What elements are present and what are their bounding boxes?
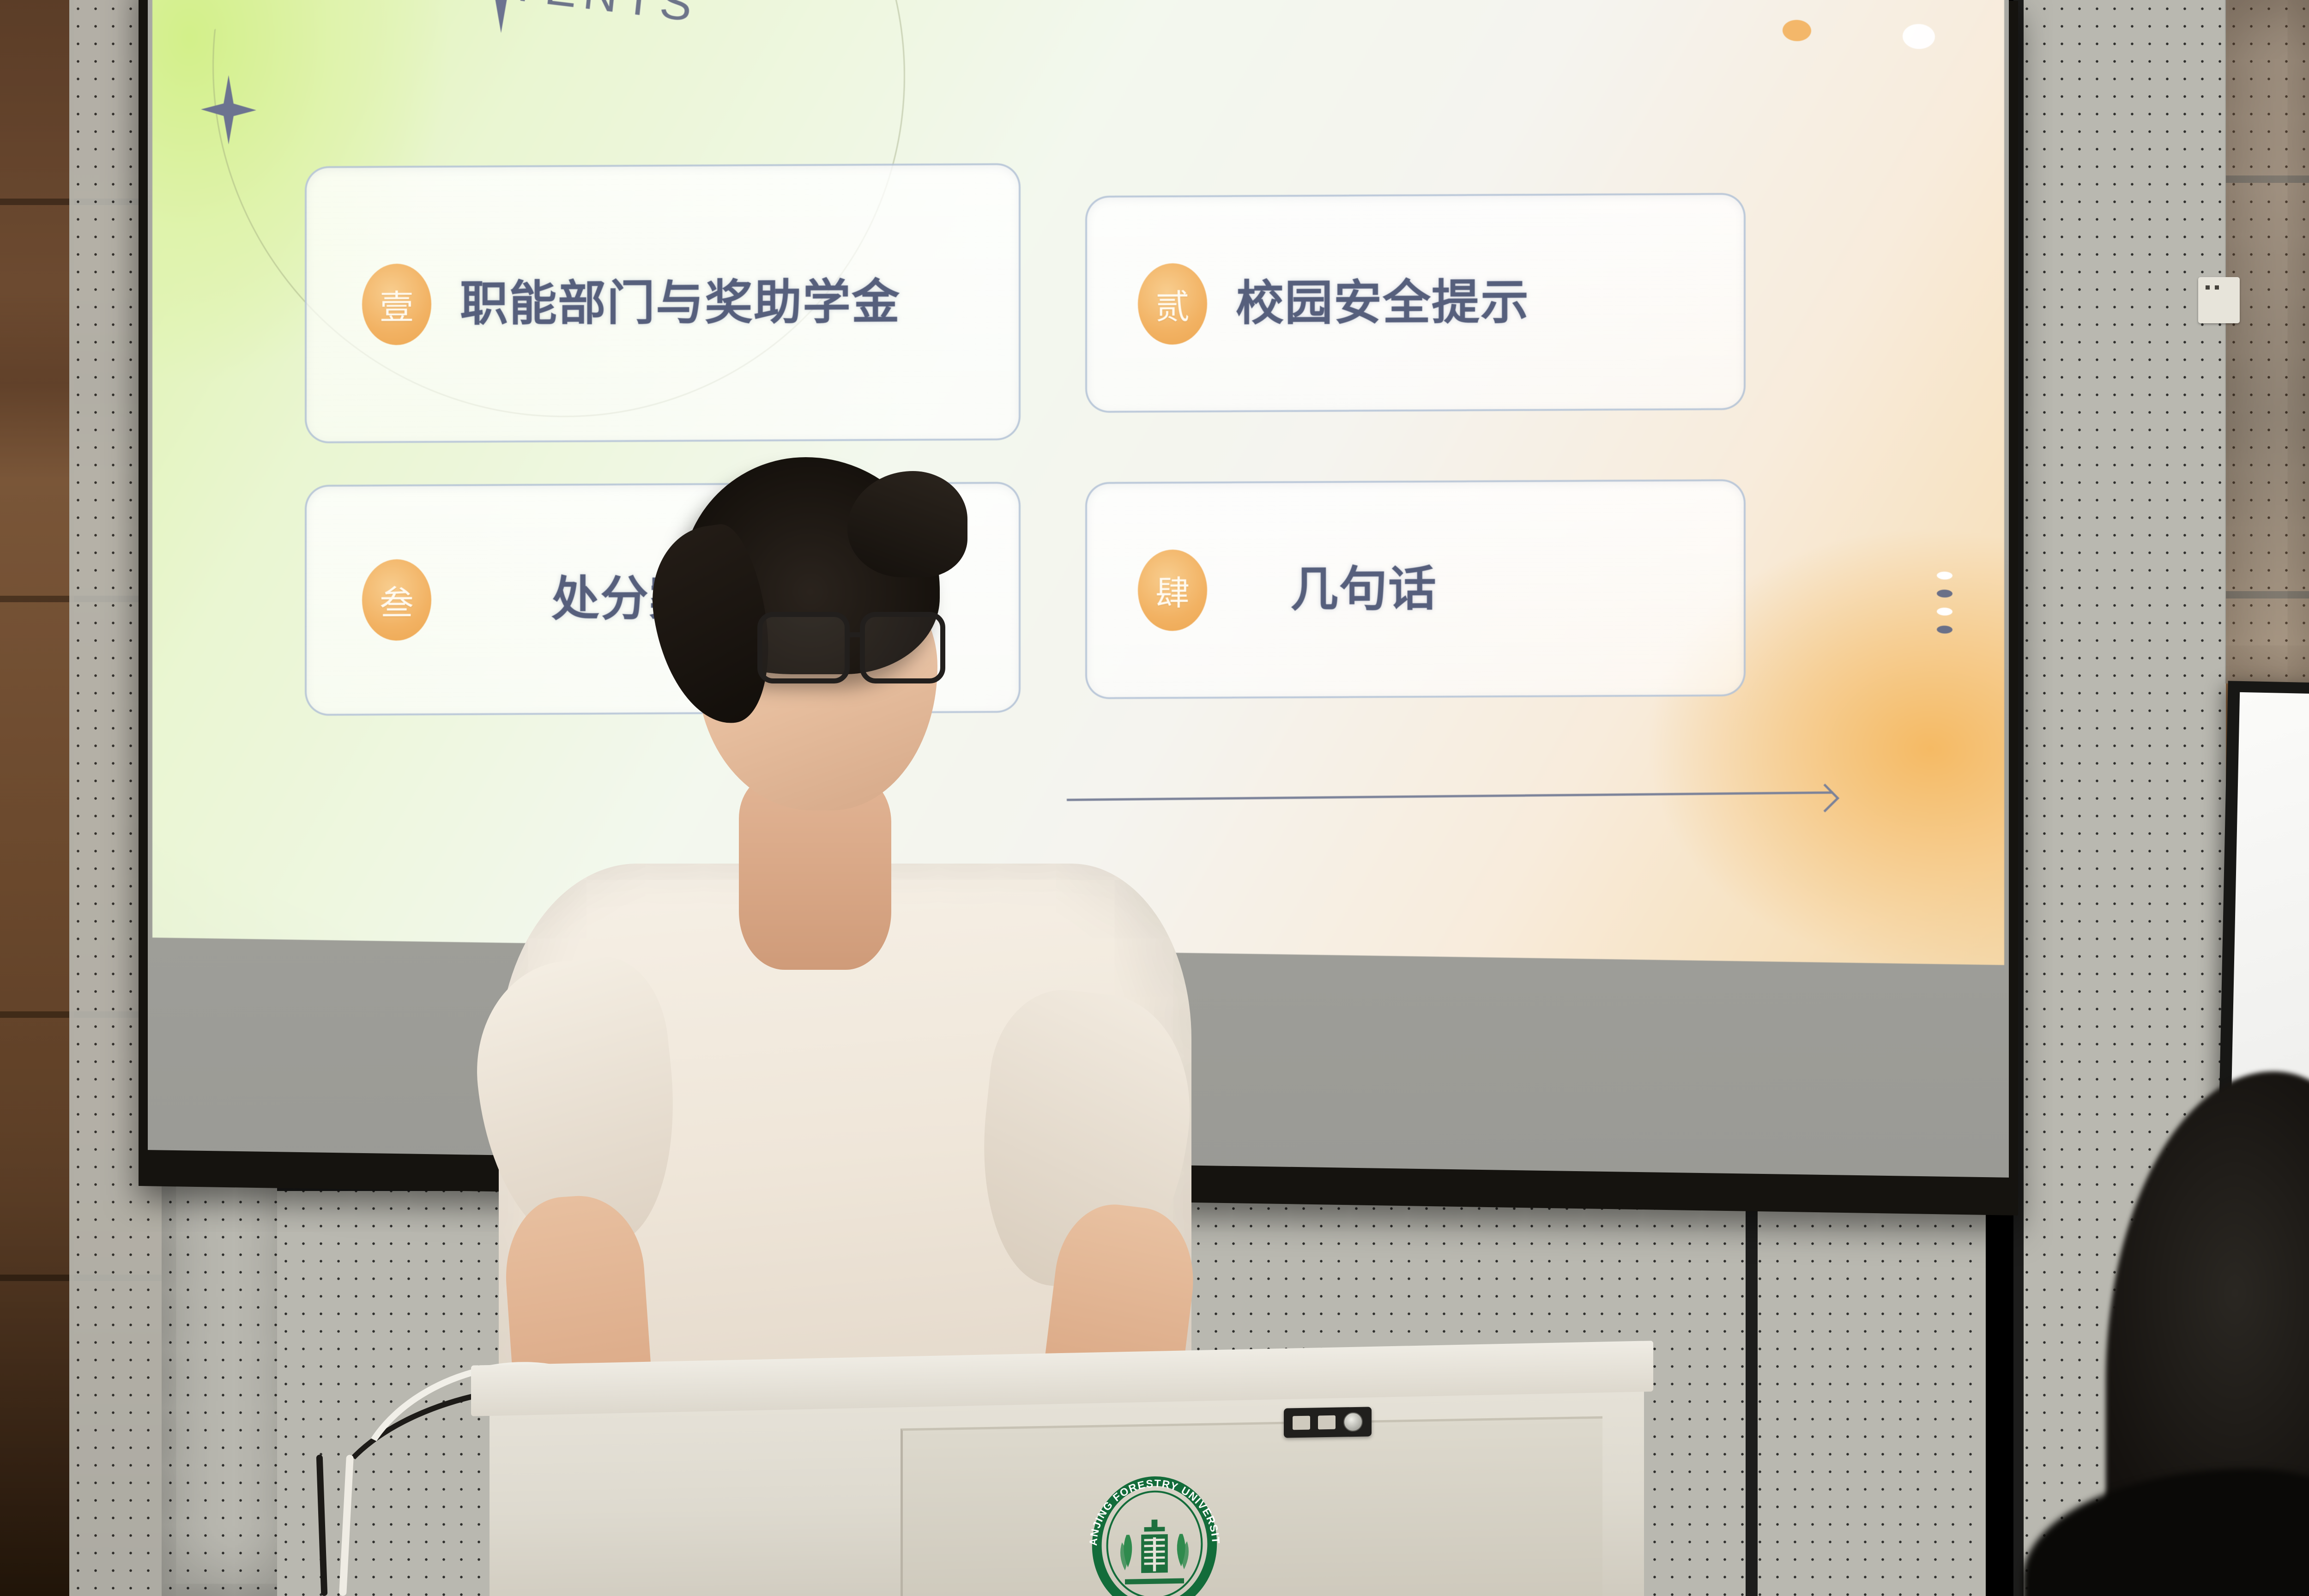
dot-dark-small [1937,590,1952,598]
card-label-4: 几句话 [1290,561,1437,618]
power-button[interactable] [1343,1412,1363,1432]
panel-gap-lower-3 [1746,1182,1758,1596]
glasses-icon [757,612,956,686]
dot-white-small [1937,572,1952,580]
card-badge-3: 叁 [362,559,431,641]
card-label-1: 职能部门与奖助学金 [460,274,901,332]
wood-wall-left-edge [0,0,74,1596]
card-label-2: 校园安全提示 [1236,274,1529,332]
port-icon[interactable] [1293,1416,1310,1430]
card-badge-2: 贰 [1138,263,1207,345]
wall-outlet-upper[interactable] [2198,277,2240,323]
acoustic-panel-far-right [2225,0,2309,683]
dot-column [1937,572,1952,634]
university-logo: NANJING FORESTRY UNIVERSITY [1081,1469,1228,1596]
dot-white-small [1937,608,1952,616]
white-dot [1903,24,1935,49]
content-card-2[interactable]: 贰 校园安全提示 [1085,193,1746,413]
content-card-1[interactable]: 壹 职能部门与奖助学金 [305,163,1021,443]
lectern[interactable]: NANJING FORESTRY UNIVERSITY [462,1353,1662,1596]
lectern-front-panel [901,1416,1602,1596]
classroom-scene: CONTENTS 壹 职能部门与奖助学金 贰 校园安全提示 叁 处分案例 [0,0,2309,1596]
card-badge-1: 壹 [362,264,431,345]
glasses-lens-right [860,612,945,683]
dot-dark-small [1937,626,1952,634]
orange-dot [1783,20,1811,42]
lectern-control-panel[interactable] [1284,1407,1372,1438]
port-icon[interactable] [1318,1415,1336,1430]
right-arrow-head-icon [1811,784,1839,812]
glasses-lens-left [757,612,850,683]
